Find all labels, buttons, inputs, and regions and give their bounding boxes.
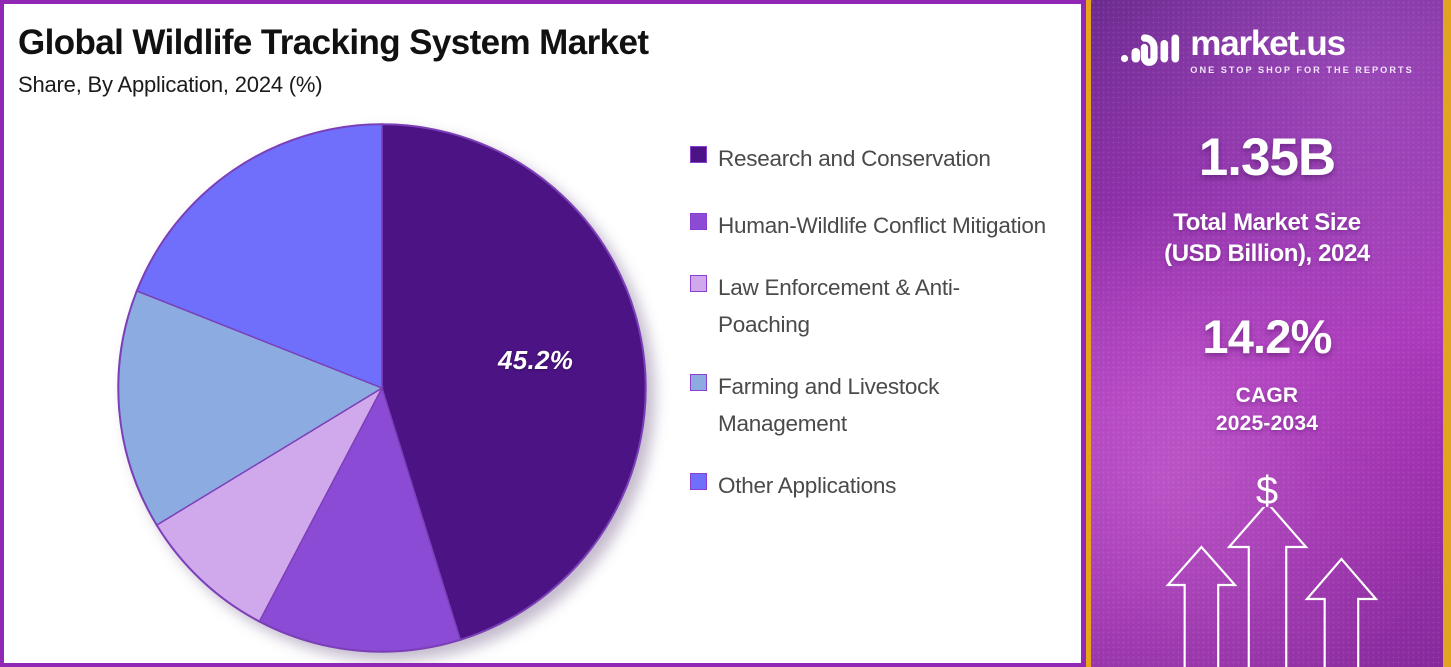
brand-name: market.us bbox=[1190, 26, 1413, 61]
market-size-caption-line2: (USD Billion), 2024 bbox=[1091, 239, 1443, 270]
sidebar-gold-rule-right bbox=[1443, 0, 1451, 667]
brand-stats-sidebar: market.us ONE STOP SHOP FOR THE REPORTS … bbox=[1081, 0, 1451, 667]
legend-item-label: Law Enforcement & Anti-Poaching bbox=[718, 269, 1048, 343]
pie-chart: 45.2% bbox=[117, 123, 647, 653]
legend-item-label: Human-Wildlife Conflict Mitigation bbox=[718, 207, 1046, 244]
cagr-caption-line2: 2025-2034 bbox=[1091, 410, 1443, 438]
arrow-up-center-icon bbox=[1229, 507, 1306, 667]
growth-arrows-svg bbox=[1091, 507, 1443, 667]
market-size-caption-line1: Total Market Size bbox=[1091, 208, 1443, 239]
market-size-value: 1.35B bbox=[1091, 127, 1443, 188]
cagr-caption-line1: CAGR bbox=[1091, 382, 1443, 410]
legend-item-label: Farming and Livestock Management bbox=[718, 368, 1048, 442]
legend-item[interactable]: Law Enforcement & Anti-Poaching bbox=[690, 269, 1070, 343]
pie-svg bbox=[117, 123, 647, 653]
legend-item[interactable]: Human-Wildlife Conflict Mitigation bbox=[690, 207, 1070, 244]
brand-logo[interactable]: market.us ONE STOP SHOP FOR THE REPORTS bbox=[1091, 26, 1443, 75]
chart-legend: Research and ConservationHuman-Wildlife … bbox=[690, 140, 1070, 534]
growth-arrows: $ bbox=[1091, 507, 1443, 667]
title-block: Global Wildlife Tracking System Market S… bbox=[18, 24, 918, 98]
legend-item-label: Research and Conservation bbox=[718, 140, 991, 177]
legend-swatch-icon bbox=[690, 146, 707, 163]
brand-tagline: ONE STOP SHOP FOR THE REPORTS bbox=[1190, 65, 1413, 75]
legend-item[interactable]: Research and Conservation bbox=[690, 140, 1070, 177]
arrow-up-left-icon bbox=[1168, 547, 1235, 667]
brand-logo-text: market.us ONE STOP SHOP FOR THE REPORTS bbox=[1190, 26, 1413, 75]
page-title: Global Wildlife Tracking System Market bbox=[18, 24, 918, 63]
chart-panel: Global Wildlife Tracking System Market S… bbox=[0, 0, 1081, 667]
cagr-caption: CAGR 2025-2034 bbox=[1091, 382, 1443, 437]
legend-item-label: Other Applications bbox=[718, 467, 896, 504]
legend-swatch-icon bbox=[690, 275, 707, 292]
sidebar-gold-rule-left bbox=[1086, 0, 1091, 667]
legend-swatch-icon bbox=[690, 213, 707, 230]
arrow-up-right-icon bbox=[1307, 559, 1376, 667]
dollar-sign-icon: $ bbox=[1256, 471, 1278, 511]
legend-item[interactable]: Other Applications bbox=[690, 467, 1070, 504]
market-us-logo-icon bbox=[1120, 30, 1180, 72]
legend-item[interactable]: Farming and Livestock Management bbox=[690, 368, 1070, 442]
infographic-root: Global Wildlife Tracking System Market S… bbox=[0, 0, 1451, 667]
page-subtitle: Share, By Application, 2024 (%) bbox=[18, 72, 918, 98]
cagr-value: 14.2% bbox=[1091, 309, 1443, 364]
sidebar-content: market.us ONE STOP SHOP FOR THE REPORTS … bbox=[1091, 0, 1443, 667]
legend-swatch-icon bbox=[690, 473, 707, 490]
pie-data-label: 45.2% bbox=[498, 345, 573, 376]
market-size-caption: Total Market Size (USD Billion), 2024 bbox=[1091, 208, 1443, 269]
legend-swatch-icon bbox=[690, 374, 707, 391]
